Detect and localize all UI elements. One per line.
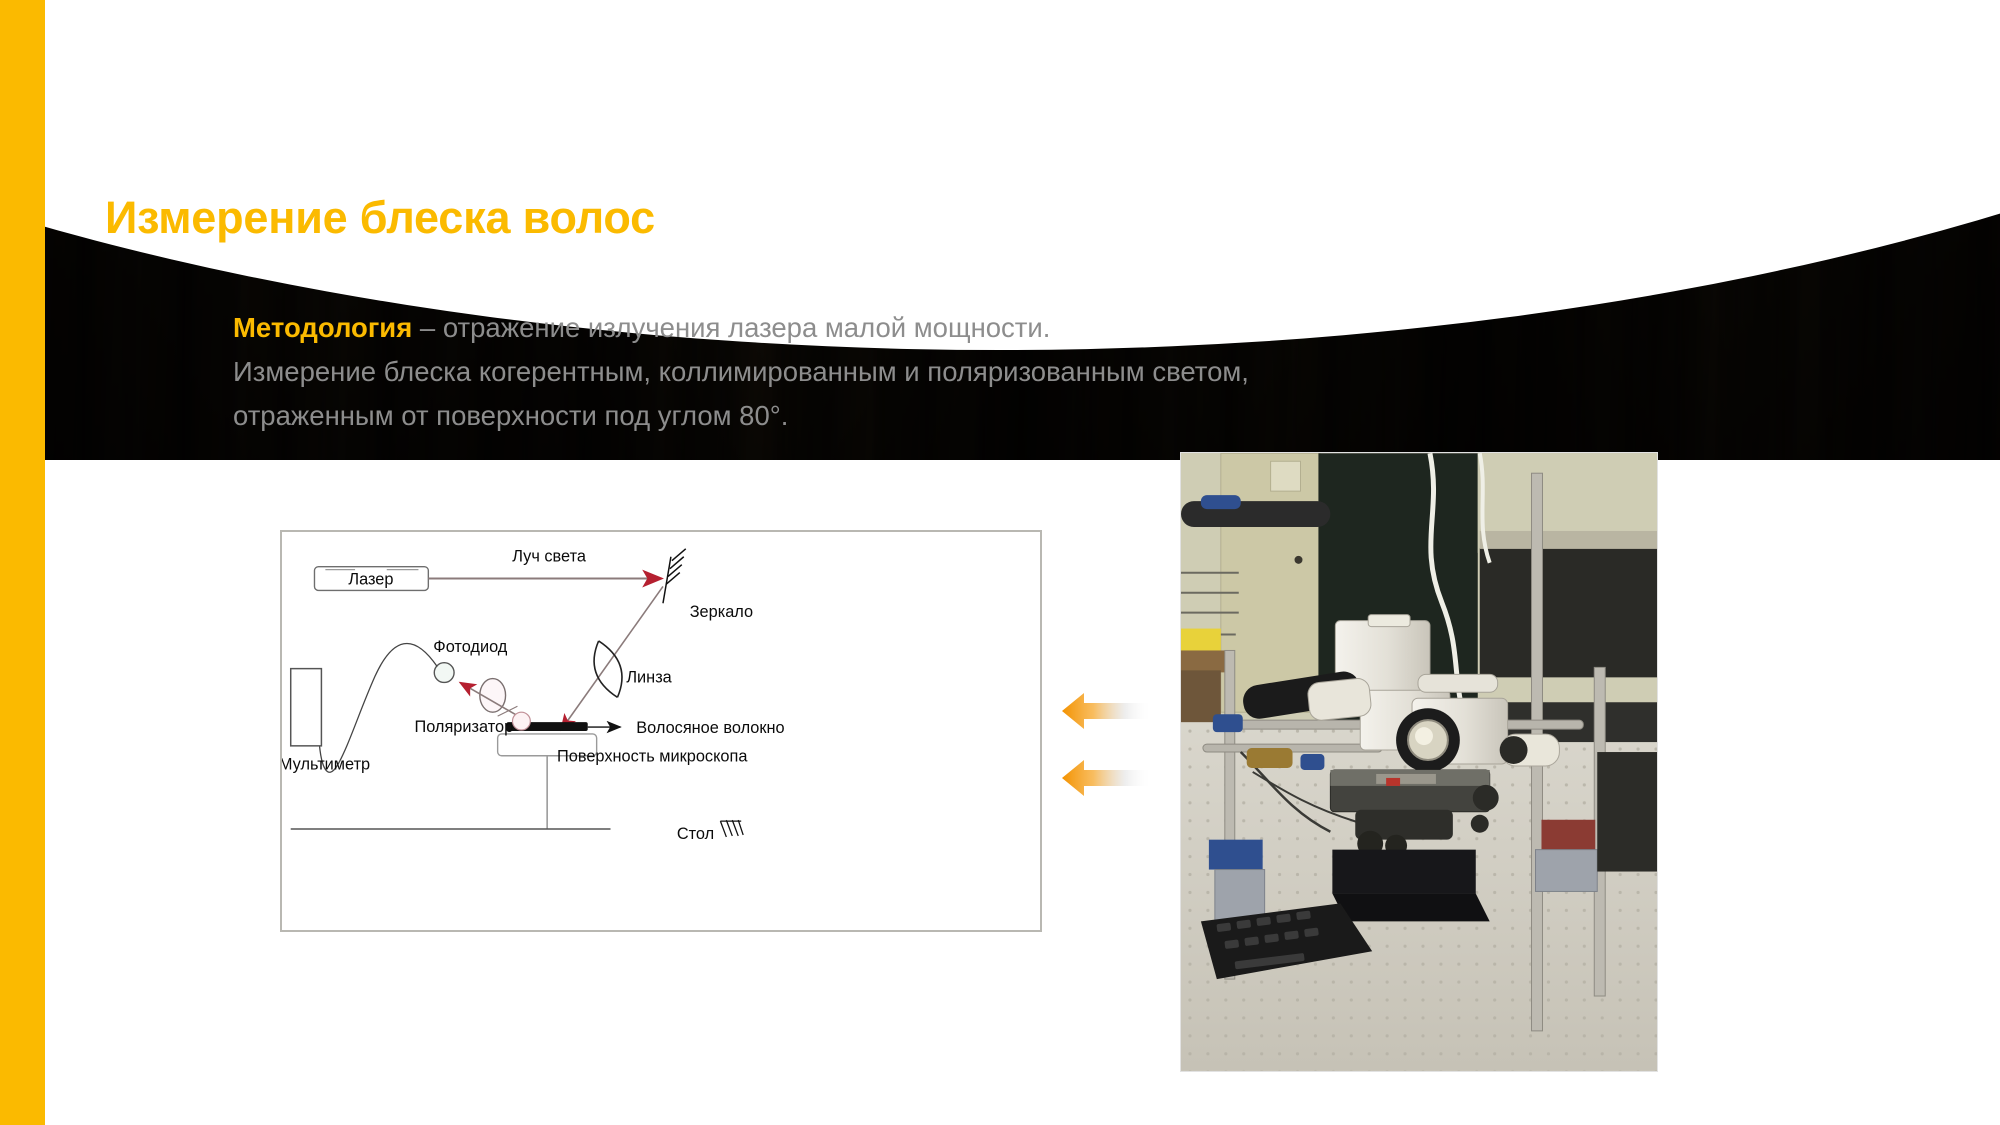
laser-device: Лазер [314,567,428,591]
label-lens: Линза [626,668,672,686]
label-polarizer: Поляризатор [414,718,513,736]
mirror-element [663,549,686,603]
body-line-2: Измерение блеска когерентным, коллимиров… [233,350,1533,394]
label-table: Стол [677,825,714,843]
lab-setup-photograph [1180,452,1658,1072]
label-multimeter: Мультиметр [282,756,370,774]
lab-photo-illustration [1181,453,1657,1071]
label-laser: Лазер [348,570,393,588]
hair-fiber-pointer: Волосяное волокно [588,719,785,737]
left-accent-bar [0,0,45,1125]
light-beam-reflected [561,586,663,730]
flow-arrow-top [1062,690,1152,732]
label-mirror: Зеркало [690,603,753,621]
microscope-surface-leader: Поверхность микроскопа [547,748,748,829]
label-microscope-surface: Поверхность микроскопа [557,748,748,766]
methodology-label: Методология [233,312,412,343]
light-beam-horizontal: Луч света [428,548,662,579]
body-line-3: отраженным от поверхности под углом 80°. [233,394,1533,438]
label-hair-fiber: Волосяное волокно [636,719,784,737]
flow-arrow-bottom [1062,757,1152,799]
methodology-rest: – отражение излучения лазера малой мощно… [412,312,1050,343]
label-light-beam: Луч света [512,548,587,566]
flow-arrow-bottom-icon [1062,757,1152,799]
photodiode-element: Фотодиод [433,638,508,683]
page-title: Измерение блеска волос [105,192,655,244]
body-line-1: Методология – отражение излучения лазера… [233,306,1533,350]
photodiode-cable [319,643,437,772]
schematic-svg: Лазер Луч света Зеркало Линза [282,532,1040,930]
flow-arrow-top-icon [1062,690,1152,732]
label-photodiode: Фотодиод [433,638,508,656]
body-text: Методология – отражение излучения лазера… [233,306,1533,438]
table-hatching-icon [720,820,743,837]
gloss-measurement-schematic: Лазер Луч света Зеркало Линза [280,530,1042,932]
